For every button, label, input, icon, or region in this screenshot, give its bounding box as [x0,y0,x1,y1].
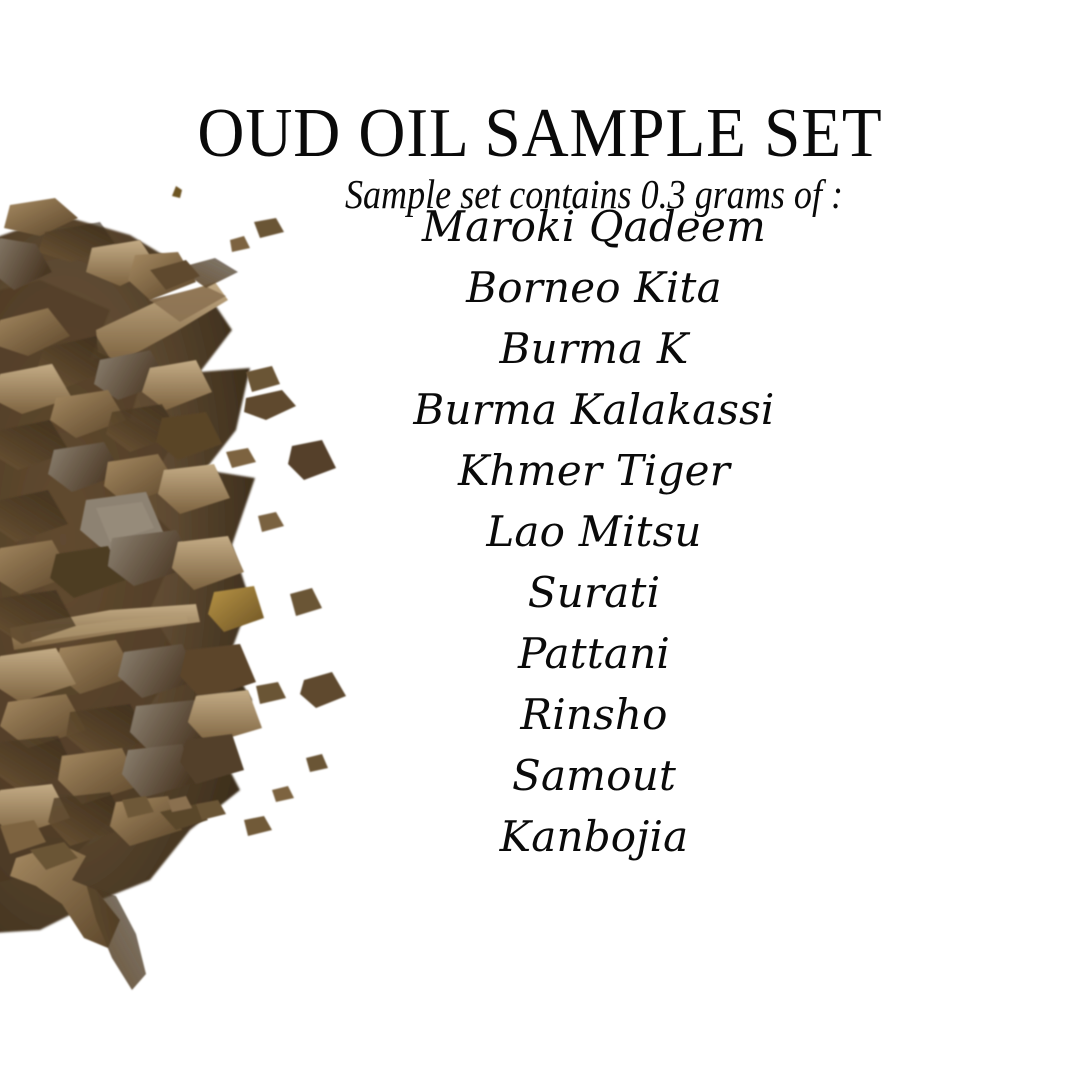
oil-list: Maroki Qadeem Borneo Kita Burma K Burma … [160,196,1028,867]
page-title: OUD OIL SAMPLE SET [187,99,894,169]
list-item: Lao Mitsu [160,501,1028,562]
list-item: Pattani [160,623,1028,684]
list-item: Surati [160,562,1028,623]
text-content: OUD OIL SAMPLE SET Sample set contains 0… [160,0,1080,1080]
product-graphic: OUD OIL SAMPLE SET Sample set contains 0… [0,0,1080,1080]
list-item: Rinsho [160,684,1028,745]
list-item: Samout [160,745,1028,806]
list-item: Khmer Tiger [160,440,1028,501]
list-item: Borneo Kita [160,257,1028,318]
list-item: Burma Kalakassi [160,379,1028,440]
list-item: Kanbojia [160,806,1028,867]
list-item: Burma K [160,318,1028,379]
list-item: Maroki Qadeem [160,196,1028,257]
